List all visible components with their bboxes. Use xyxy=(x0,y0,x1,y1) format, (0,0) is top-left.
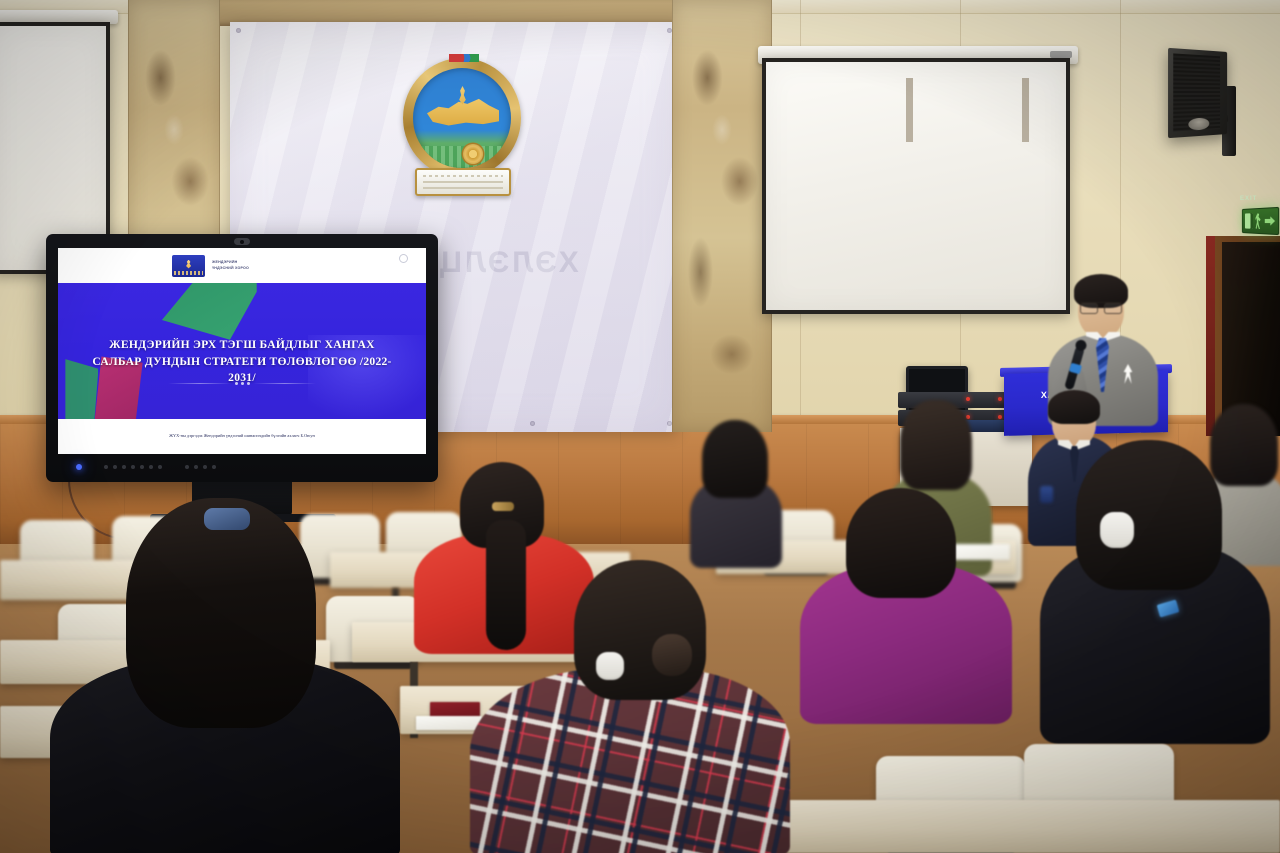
slide-body: ЖЕНДЭРИЙН ЭРХ ТЭГШ БАЙДЛЫГ ХАНГАХ САЛБАР… xyxy=(58,283,426,419)
slide-separator xyxy=(168,382,315,385)
slide-organization-name: ЖЕНДЭРИЙН ҮНДЭСНИЙ ХОРОО xyxy=(212,260,249,271)
mongolian-state-emblem-icon xyxy=(397,56,529,202)
exit-sign xyxy=(1242,207,1279,235)
slide-header: ЖЕНДЭРИЙН ҮНДЭСНИЙ ХОРОО xyxy=(58,248,426,283)
government-logo-icon xyxy=(172,255,205,277)
hair-bun xyxy=(652,634,692,676)
conference-hall-photo: ХЭЛЭЛЦҮҮЛЭГ EXIT xyxy=(0,0,1280,853)
table-leg xyxy=(1022,78,1029,142)
slide-decor-circle xyxy=(399,254,408,263)
display-button-row[interactable] xyxy=(46,458,438,476)
slide-title-line-1: ЖЕНДЭРИЙН ЭРХ ТЭГШ БАЙДЛЫГ ХАНГАХ xyxy=(80,337,404,353)
display-screen[interactable]: ЖЕНДЭРИЙН ҮНДЭСНИЙ ХОРОО ЖЕНДЭРИЙН ЭРХ Т… xyxy=(58,248,426,454)
attendee-plaid-scarf xyxy=(470,560,790,853)
table-leg xyxy=(906,78,913,142)
face-mask xyxy=(596,652,624,680)
wall-speaker-icon xyxy=(1168,48,1227,138)
banner-grommet xyxy=(530,421,535,426)
presentation-slide: ЖЕНДЭРИЙН ҮНДЭСНИЙ ХОРОО ЖЕНДЭРИЙН ЭРХ Т… xyxy=(58,248,426,454)
slide-presenter-credit: ЖҮХ-ны дэргэдэх Жендэрийн үндэсний шинжэ… xyxy=(169,433,315,440)
marble-pilaster-right xyxy=(672,0,772,432)
banner-grommet xyxy=(236,28,241,33)
hair-clip xyxy=(492,502,514,511)
hair-tie xyxy=(204,508,250,530)
exit-sign-label: EXIT xyxy=(1240,196,1257,202)
attendee-black-blazer xyxy=(1040,440,1270,730)
running-person-icon xyxy=(1255,213,1262,229)
slide-footer: ЖҮХ-ны дэргэдэх Жендэрийн үндэсний шинжэ… xyxy=(58,419,426,454)
attendee-foreground-black xyxy=(50,498,400,853)
interactive-display[interactable]: ЖЕНДЭРИЙН ҮНДЭСНИЙ ХОРОО ЖЕНДЭРИЙН ЭРХ Т… xyxy=(46,234,438,482)
attendee-back-row xyxy=(690,420,782,550)
face-mask xyxy=(1100,512,1134,548)
display-camera-icon xyxy=(234,238,250,245)
roller-brand-logo xyxy=(1050,51,1072,58)
door-icon xyxy=(1245,213,1253,229)
slide-title: ЖЕНДЭРИЙН ЭРХ ТЭГШ БАЙДЛЫГ ХАНГАХ САЛБАР… xyxy=(80,337,404,386)
attendee-purple-blazer xyxy=(800,488,1012,708)
right-arrow-icon xyxy=(1265,215,1275,227)
